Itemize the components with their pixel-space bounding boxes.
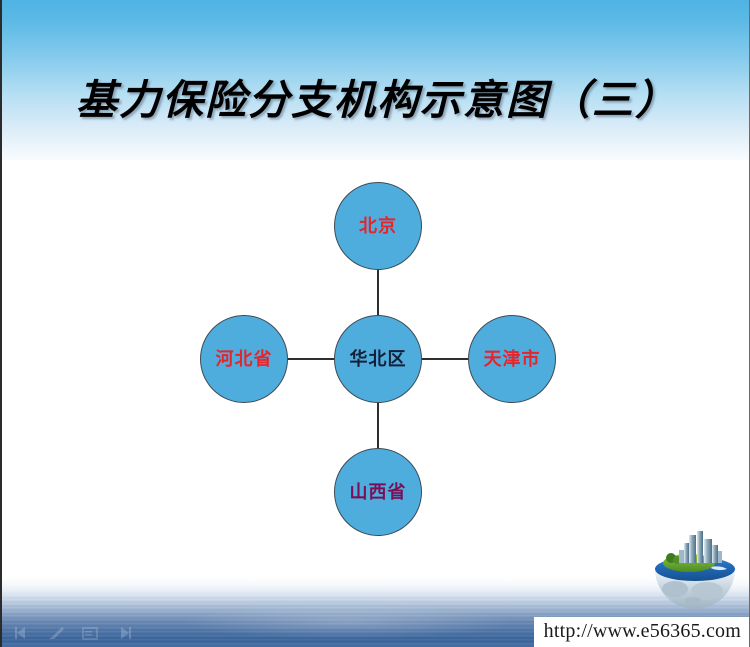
next-slide-icon[interactable] (114, 625, 134, 641)
edge-center-to-left (288, 358, 335, 360)
node-north-china-region[interactable]: 华北区 (334, 315, 422, 403)
pen-tool-icon[interactable] (46, 625, 66, 641)
node-tianjin[interactable]: 天津市 (468, 315, 556, 403)
earth-city-globe-icon (649, 529, 741, 615)
presentation-slide: 基力保险分支机构示意图（三） 北京 河北省 华北区 天津市 山西省 (0, 0, 750, 647)
node-shanxi[interactable]: 山西省 (334, 448, 422, 536)
node-north-china-region-label: 华北区 (350, 350, 407, 368)
node-tianjin-label: 天津市 (484, 350, 541, 368)
previous-slide-icon[interactable] (12, 625, 32, 641)
slide-menu-icon[interactable] (80, 625, 100, 641)
node-beijing-label: 北京 (359, 217, 397, 235)
watermark-url: http://www.e56365.com (534, 617, 749, 647)
edge-center-to-right (422, 358, 469, 360)
node-hebei-label: 河北省 (216, 350, 273, 368)
edge-center-to-top (377, 268, 379, 316)
node-shanxi-label: 山西省 (350, 483, 407, 501)
edge-center-to-bottom (377, 402, 379, 450)
page-title: 基力保险分支机构示意图（三） (2, 66, 750, 126)
node-hebei[interactable]: 河北省 (200, 315, 288, 403)
node-beijing[interactable]: 北京 (334, 182, 422, 270)
slideshow-nav-bar[interactable] (12, 625, 134, 641)
